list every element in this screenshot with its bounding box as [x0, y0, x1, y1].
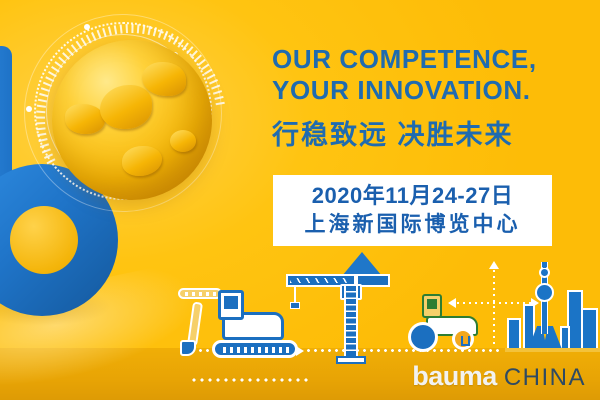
logo-region-text: CHINA — [504, 364, 586, 392]
globe-tick — [36, 122, 45, 124]
globe-tick — [126, 24, 128, 33]
globe-graphic — [20, 18, 225, 228]
chinese-slogan: 行稳致远 决胜未来 — [272, 113, 592, 152]
pearl-tower-antenna — [543, 262, 546, 268]
globe-tick — [45, 77, 54, 82]
excavator-boom — [178, 288, 222, 299]
globe-tick — [76, 41, 82, 49]
globe-tick — [216, 102, 225, 105]
date-venue-box: 2020年11月24-27日 上海新国际博览中心 — [273, 175, 552, 246]
globe-tick — [40, 144, 49, 148]
globe-continent — [122, 146, 162, 176]
skyline-building — [581, 308, 598, 352]
globe-tick — [114, 25, 117, 34]
event-date: 2020年11月24-27日 — [312, 181, 513, 211]
globe-continent — [65, 104, 105, 134]
globe-tick — [137, 24, 139, 33]
globe-sphere — [52, 40, 212, 200]
globe-tick — [120, 25, 123, 34]
globe-tick — [42, 149, 51, 154]
globe-tick — [38, 138, 47, 142]
globe-tick — [153, 27, 157, 36]
globe-tick — [37, 133, 46, 136]
globe-tick — [37, 128, 46, 131]
globe-tick — [51, 66, 59, 72]
globe-tick — [214, 96, 223, 100]
globe-tick — [102, 28, 106, 37]
globe-tick — [54, 61, 62, 68]
skyline-ground-line — [505, 348, 600, 352]
crosshair-vertical — [493, 268, 495, 346]
roller-cab — [422, 294, 442, 318]
headline-block: OUR COMPETENCE, YOUR INNOVATION. 行稳致远 决胜… — [272, 44, 592, 152]
globe-tick — [43, 82, 52, 87]
globe-continent — [170, 130, 196, 152]
globe-tick — [163, 31, 168, 40]
crane-hook-block — [290, 302, 300, 309]
bauma-china-banner: OUR COMPETENCE, YOUR INNOVATION. 行稳致远 决胜… — [0, 0, 600, 400]
globe-tick — [66, 48, 73, 56]
crane-apex — [342, 252, 382, 276]
pearl-tower-sphere-large — [535, 283, 554, 302]
globe-tick — [201, 64, 209, 70]
globe-tick — [71, 44, 78, 52]
roller-wheel — [408, 322, 438, 352]
globe-tick — [131, 24, 133, 33]
crane-base — [336, 356, 366, 364]
globe-tick — [47, 159, 56, 165]
globe-tick — [204, 69, 213, 75]
globe-tick — [81, 38, 87, 47]
globe-tick — [36, 117, 45, 119]
headline-line-1: OUR COMPETENCE, — [272, 44, 592, 75]
globe-tick — [209, 79, 218, 84]
globe-tick — [62, 52, 70, 59]
globe-tick — [38, 99, 47, 102]
globe-tick — [36, 111, 45, 113]
excavator-cab — [218, 290, 244, 320]
globe-tick — [37, 105, 46, 108]
crane-mast — [344, 286, 358, 358]
globe-tick — [211, 85, 220, 90]
globe-continent — [142, 62, 186, 96]
globe-tick — [213, 90, 222, 94]
event-venue: 上海新国际博览中心 — [305, 211, 521, 239]
crosshair-arrow-left — [448, 298, 456, 308]
headline-line-2: YOUR INNOVATION. — [272, 75, 592, 106]
globe-tick — [207, 74, 216, 80]
globe-tick — [108, 26, 112, 35]
globe-tick — [97, 30, 102, 39]
tower-crane-illustration — [300, 258, 410, 368]
globe-tick — [158, 29, 162, 38]
crosshair-arrow-up — [489, 261, 499, 269]
globe-tick — [44, 154, 53, 159]
excavator-track — [212, 340, 298, 358]
globe-tick — [39, 93, 48, 97]
globe-tick — [86, 35, 92, 44]
globe-tick — [168, 33, 173, 42]
globe-tick — [41, 88, 50, 92]
pearl-tower-sphere-small — [539, 267, 550, 278]
dotted-line-lower — [190, 378, 310, 382]
globe-node — [26, 106, 32, 112]
globe-node — [84, 24, 90, 30]
logo-brand-text: bauma — [412, 361, 497, 392]
excavator-illustration — [196, 282, 316, 362]
bauma-china-logo: bauma CHINA — [412, 361, 586, 392]
globe-tick — [148, 26, 151, 35]
skyline-building — [507, 318, 521, 352]
globe-continent — [100, 85, 152, 129]
globe-tick — [58, 57, 66, 64]
globe-tick — [48, 71, 57, 77]
globe-tick — [173, 36, 179, 45]
globe-tick — [142, 25, 145, 34]
globe-tick — [91, 32, 96, 41]
shanghai-skyline-illustration — [505, 262, 600, 352]
